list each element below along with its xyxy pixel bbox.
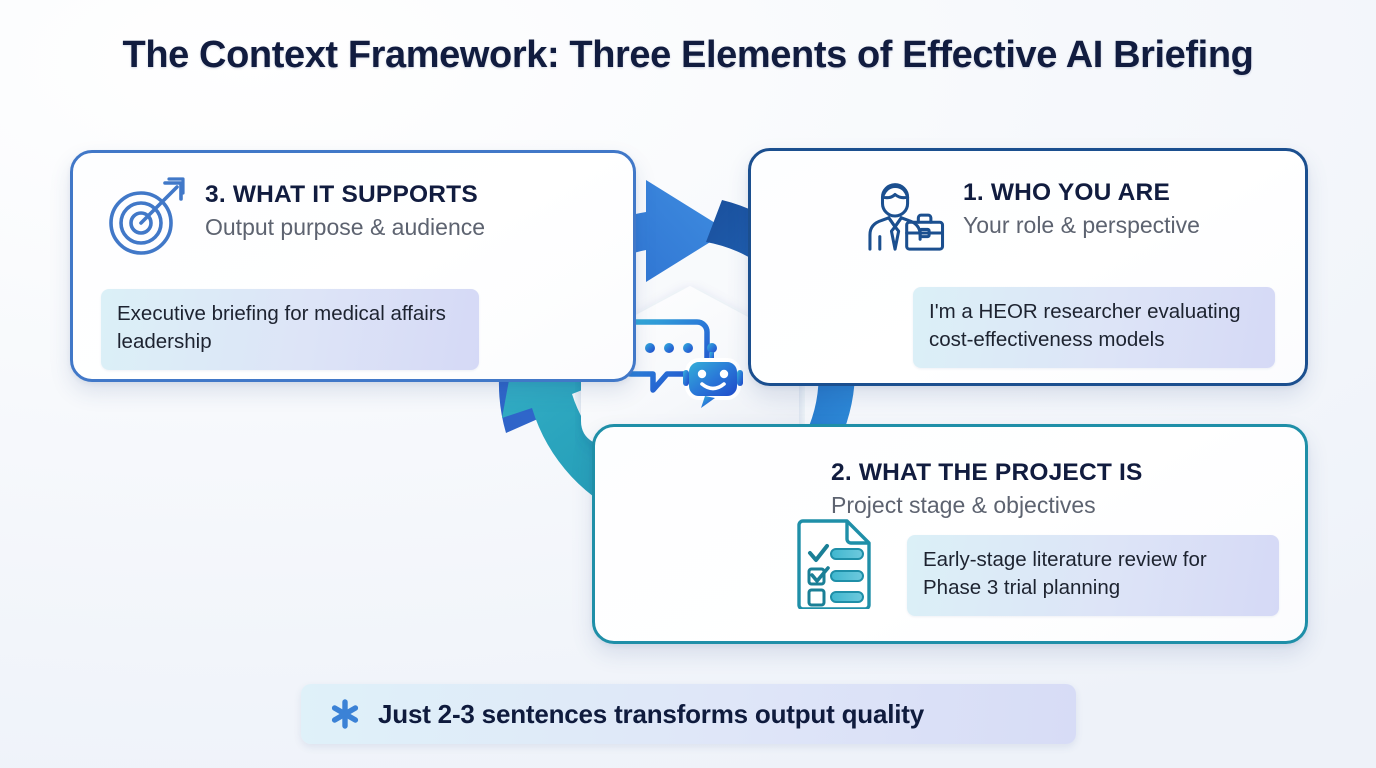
card-who-you-are[interactable]: 1. WHO YOU ARE Your role & perspective I… <box>748 148 1308 386</box>
card-kicker: 1. WHO YOU ARE <box>963 179 1200 207</box>
chat-robot-icon <box>617 308 767 408</box>
infographic-canvas: The Context Framework: Three Elements of… <box>0 0 1376 768</box>
asterisk-sparkle-icon <box>330 699 360 729</box>
card-what-the-project-is[interactable]: 2. WHAT THE PROJECT IS Project stage & o… <box>592 424 1308 644</box>
footer-banner: Just 2-3 sentences transforms output qua… <box>301 684 1076 744</box>
businessperson-briefcase-icon <box>861 173 947 259</box>
card-example-chip: Early-stage literature review for Phase … <box>907 535 1279 616</box>
card-kicker: 3. WHAT IT SUPPORTS <box>205 181 485 209</box>
card-what-it-supports[interactable]: 3. WHAT IT SUPPORTS Output purpose & aud… <box>70 150 636 382</box>
card-kicker: 2. WHAT THE PROJECT IS <box>831 459 1143 487</box>
target-icon <box>103 175 189 261</box>
page-title: The Context Framework: Three Elements of… <box>0 34 1376 77</box>
card-example-chip: I'm a HEOR researcher evaluating cost-ef… <box>913 287 1275 368</box>
card-subtitle: Output purpose & audience <box>205 213 485 243</box>
checklist-document-icon <box>793 517 879 609</box>
banner-text: Just 2-3 sentences transforms output qua… <box>378 699 924 730</box>
card-subtitle: Your role & perspective <box>963 211 1200 241</box>
card-example-chip: Executive briefing for medical affairs l… <box>101 289 479 370</box>
